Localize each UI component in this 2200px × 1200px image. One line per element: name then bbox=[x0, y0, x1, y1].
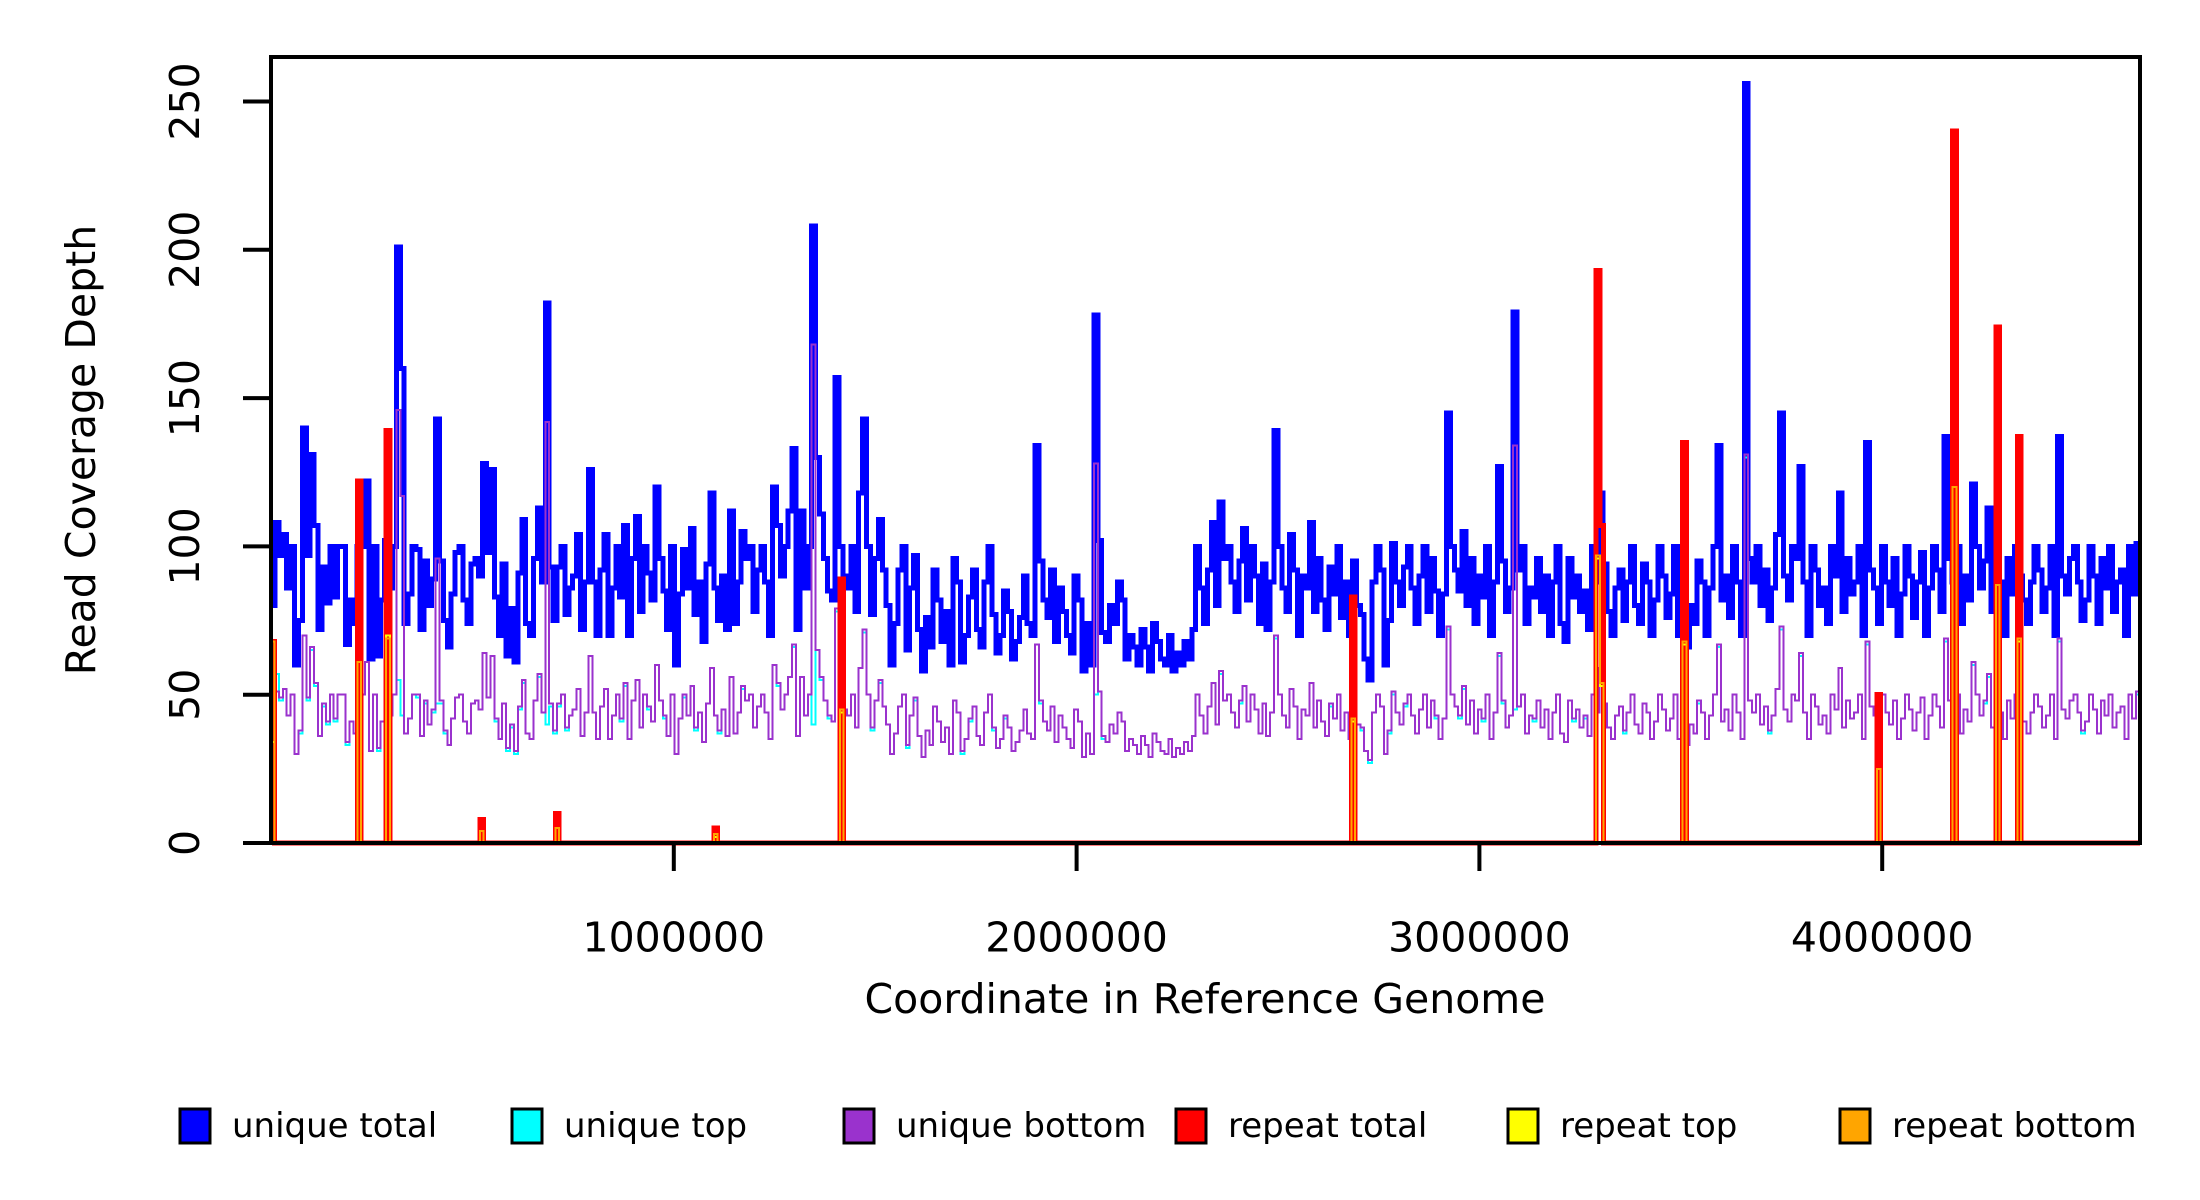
y-tick-label: 150 bbox=[161, 359, 209, 437]
legend-label-repeat-total: repeat total bbox=[1228, 1106, 1427, 1146]
y-tick-label: 200 bbox=[161, 211, 209, 289]
legend-swatch-repeat-total bbox=[1176, 1109, 1206, 1143]
x-tick-label: 4000000 bbox=[1791, 913, 1974, 961]
legend-swatch-unique-total bbox=[180, 1109, 210, 1143]
x-tick-label: 2000000 bbox=[985, 913, 1168, 961]
coverage-plot-svg: 050100150200250 100000020000003000000400… bbox=[0, 0, 2200, 1200]
legend-swatch-unique-bottom bbox=[844, 1109, 874, 1143]
legend-swatch-repeat-bottom bbox=[1840, 1109, 1870, 1143]
y-axis-title: Read Coverage Depth bbox=[57, 225, 105, 675]
coverage-depth-figure: 050100150200250 100000020000003000000400… bbox=[0, 0, 2200, 1200]
y-tick-label: 50 bbox=[161, 669, 209, 721]
x-tick-label: 3000000 bbox=[1388, 913, 1571, 961]
legend-swatch-repeat-top bbox=[1508, 1109, 1538, 1143]
legend-label-unique-top: unique top bbox=[564, 1106, 747, 1146]
x-tick-label: 1000000 bbox=[582, 913, 765, 961]
legend-label-unique-bottom: unique bottom bbox=[896, 1106, 1146, 1146]
legend-swatch-unique-top bbox=[512, 1109, 542, 1143]
x-axis-title: Coordinate in Reference Genome bbox=[865, 975, 1546, 1023]
legend-label-repeat-top: repeat top bbox=[1560, 1106, 1737, 1146]
y-tick-label: 100 bbox=[161, 507, 209, 585]
y-tick-label: 250 bbox=[161, 62, 209, 140]
legend-label-unique-total: unique total bbox=[232, 1106, 437, 1146]
y-tick-label: 0 bbox=[161, 830, 209, 856]
legend-label-repeat-bottom: repeat bottom bbox=[1892, 1106, 2137, 1146]
